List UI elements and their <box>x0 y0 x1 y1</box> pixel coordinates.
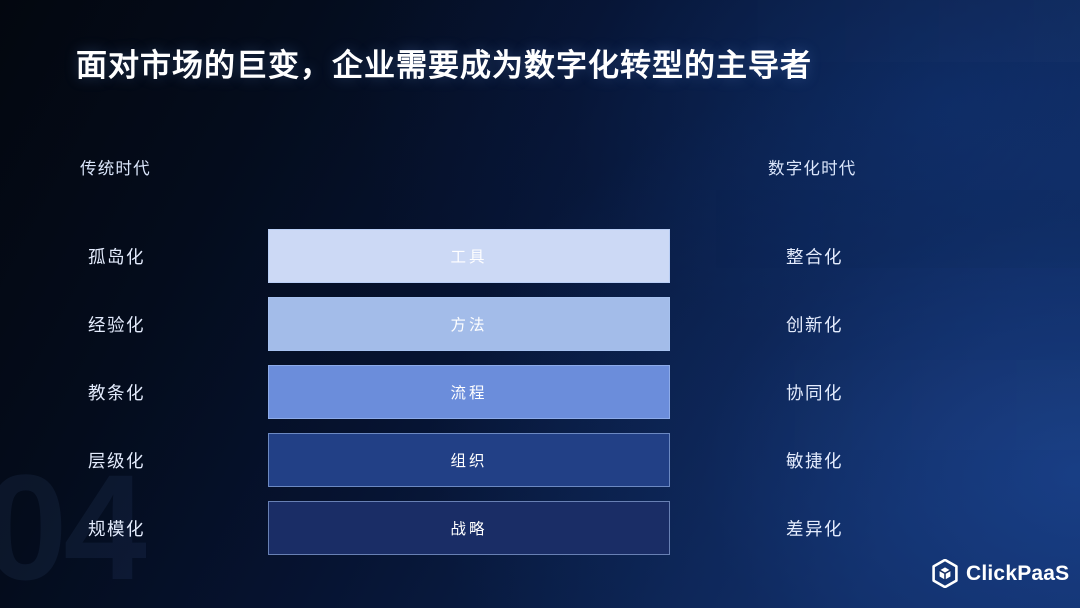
right-label: 创新化 <box>786 297 843 351</box>
comparison-row: 层级化 组织 敏捷化 <box>0 433 1080 487</box>
left-label: 孤岛化 <box>88 229 145 283</box>
comparison-row: 经验化 方法 创新化 <box>0 297 1080 351</box>
center-bar[interactable]: 方法 <box>268 297 670 351</box>
center-bar[interactable]: 组织 <box>268 433 670 487</box>
comparison-row: 孤岛化 工具 整合化 <box>0 229 1080 283</box>
left-label: 层级化 <box>88 433 145 487</box>
left-label: 经验化 <box>88 297 145 351</box>
comparison-rows: 孤岛化 工具 整合化 经验化 方法 创新化 教条化 流程 协同化 层级化 组织 … <box>0 0 1080 608</box>
comparison-row: 教条化 流程 协同化 <box>0 365 1080 419</box>
brand-logo: ClickPaaS <box>932 559 1069 588</box>
center-bar[interactable]: 工具 <box>268 229 670 283</box>
left-label: 规模化 <box>88 501 145 555</box>
slide-canvas: 04 面对市场的巨变，企业需要成为数字化转型的主导者 传统时代 数字化时代 孤岛… <box>0 0 1080 608</box>
center-bar[interactable]: 流程 <box>268 365 670 419</box>
right-label: 敏捷化 <box>786 433 843 487</box>
left-label: 教条化 <box>88 365 145 419</box>
brand-logo-text: ClickPaaS <box>966 563 1069 584</box>
right-label: 差异化 <box>786 501 843 555</box>
comparison-row: 规模化 战略 差异化 <box>0 501 1080 555</box>
right-label: 整合化 <box>786 229 843 283</box>
center-bar[interactable]: 战略 <box>268 501 670 555</box>
hexagon-cube-icon <box>932 559 958 588</box>
right-label: 协同化 <box>786 365 843 419</box>
